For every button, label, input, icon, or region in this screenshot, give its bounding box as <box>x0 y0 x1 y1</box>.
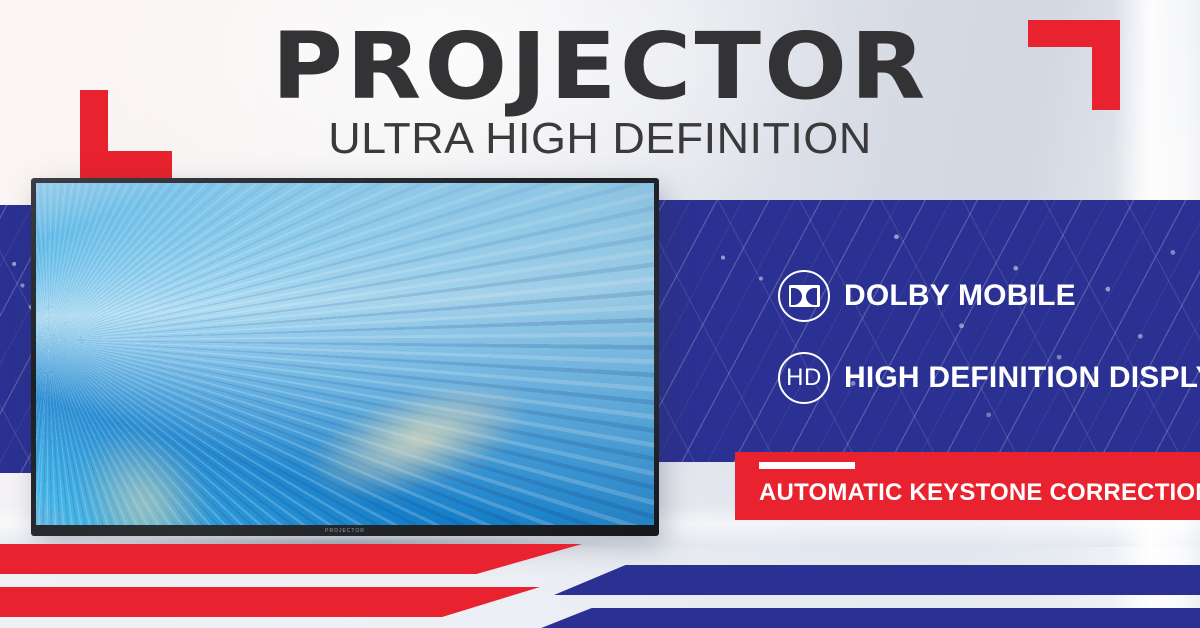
tv-bezel: PROJECTOR <box>31 178 659 536</box>
stripe-navy-upper <box>554 565 1200 595</box>
stripe-red-upper <box>0 544 582 574</box>
projector-promo-banner: PROJECTOR ULTRA HIGH DEFINITION PROJEC <box>0 0 1200 628</box>
callout-text: AUTOMATIC KEYSTONE CORRECTION <box>759 479 1200 507</box>
callout-rule <box>759 462 855 469</box>
stripe-navy-lower <box>516 608 1200 628</box>
callout-banner: AUTOMATIC KEYSTONE CORRECTION <box>735 452 1200 520</box>
feature-label-hd: HIGH DEFINITION DISPLY <box>844 361 1200 395</box>
art-vignette <box>36 183 654 525</box>
tv-screen <box>36 183 654 525</box>
hd-icon-text: HD <box>786 366 822 390</box>
feature-item-dolby: DOLBY MOBILE <box>778 268 1200 324</box>
tv-brand-label: PROJECTOR <box>325 528 365 534</box>
page-title: PROJECTOR <box>0 22 1200 112</box>
feature-item-hd: HD HIGH DEFINITION DISPLY <box>778 350 1200 406</box>
hd-icon: HD <box>778 352 830 404</box>
page-subtitle: ULTRA HIGH DEFINITION <box>0 116 1200 162</box>
headline-group: PROJECTOR ULTRA HIGH DEFINITION <box>0 22 1200 162</box>
feature-label-dolby: DOLBY MOBILE <box>844 279 1076 313</box>
stripe-red-lower <box>0 587 540 617</box>
feature-list: DOLBY MOBILE HD HIGH DEFINITION DISPLY <box>778 268 1200 432</box>
dolby-icon <box>778 270 830 322</box>
bottom-stripes <box>0 540 1200 628</box>
tv-display: PROJECTOR <box>31 178 659 536</box>
dolby-double-d-mark <box>789 285 820 307</box>
screen-artwork <box>36 183 654 525</box>
